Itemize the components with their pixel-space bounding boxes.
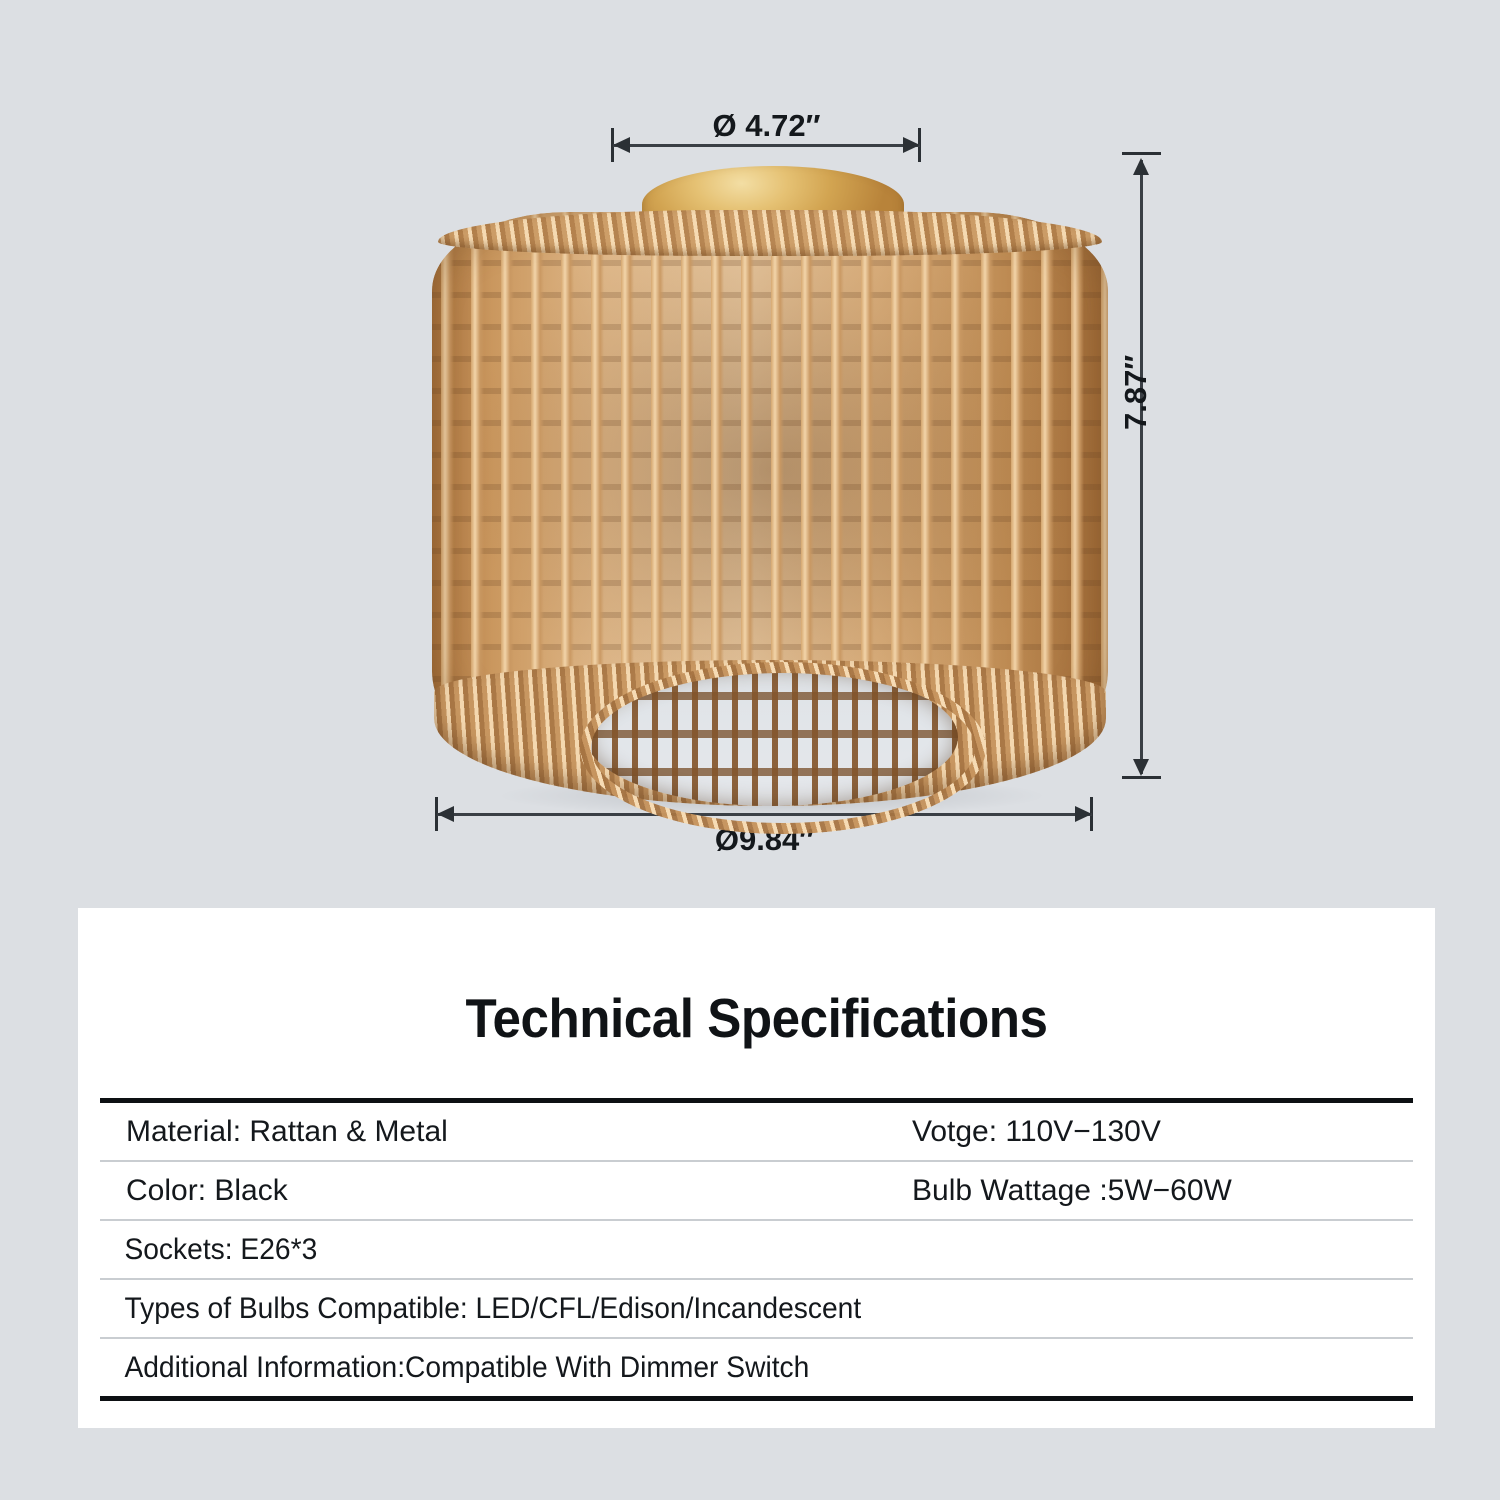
spec-sockets-label: Sockets: E26*3 bbox=[100, 1233, 1334, 1267]
spec-material-label: Material: Rattan & Metal bbox=[100, 1115, 886, 1149]
table-row: Additional Information:Compatible With D… bbox=[100, 1339, 1413, 1396]
table-row: Types of Bulbs Compatible: LED/CFL/Ediso… bbox=[100, 1280, 1413, 1339]
technical-specifications-panel: Technical Specifications Material: Ratta… bbox=[78, 908, 1435, 1428]
spec-voltage-label: Votge: 110V−130V bbox=[886, 1115, 1413, 1149]
product-illustration-area: Ø 4.72″ Ø9.84″ 7.87″ bbox=[0, 0, 1500, 900]
dimension-label-height: 7.87″ bbox=[1118, 355, 1154, 430]
table-row: Sockets: E26*3 bbox=[100, 1221, 1413, 1280]
spec-additional-information-label: Additional Information:Compatible With D… bbox=[100, 1351, 1334, 1385]
spec-color-label: Color: Black bbox=[100, 1174, 886, 1208]
spec-bulb-types-label: Types of Bulbs Compatible: LED/CFL/Ediso… bbox=[100, 1292, 1334, 1326]
ceiling-light-product-image bbox=[410, 150, 1130, 830]
table-row: Material: Rattan & Metal Votge: 110V−130… bbox=[100, 1103, 1413, 1162]
dimension-line-top bbox=[613, 144, 920, 147]
rattan-bottom-opening-rim bbox=[580, 662, 986, 834]
arrow-right-icon bbox=[1075, 806, 1092, 822]
dimension-tick-vertical-bottom bbox=[1122, 776, 1161, 779]
arrow-up-icon bbox=[1133, 158, 1149, 175]
arrow-down-icon bbox=[1133, 759, 1149, 776]
dimension-line-vertical bbox=[1140, 160, 1143, 774]
rattan-shade bbox=[420, 190, 1120, 802]
arrow-left-icon bbox=[437, 806, 454, 822]
table-row: Color: Black Bulb Wattage :5W−60W bbox=[100, 1162, 1413, 1221]
spec-bulb-wattage-label: Bulb Wattage :5W−60W bbox=[886, 1174, 1413, 1208]
dimension-tick-vertical-top bbox=[1122, 152, 1161, 155]
page-title: Technical Specifications bbox=[125, 986, 1387, 1050]
dimension-label-canopy-diameter: Ø 4.72″ bbox=[613, 108, 920, 144]
specifications-table: Material: Rattan & Metal Votge: 110V−130… bbox=[100, 1098, 1413, 1401]
rattan-top-band bbox=[438, 210, 1102, 256]
